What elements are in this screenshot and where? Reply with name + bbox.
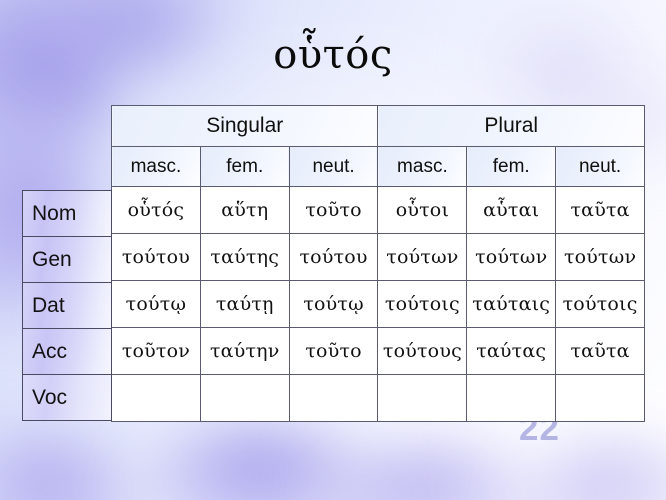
cell-nom-pl-neut: ταῦτα: [556, 187, 645, 234]
header-plural-neut: neut.: [556, 147, 645, 187]
cell-dat-pl-neut: τούτοις: [556, 281, 645, 328]
table-row-acc: τοῦτον ταύτην τοῦτο τούτους ταύτας ταῦτα: [112, 328, 645, 375]
table-row-voc: [112, 375, 645, 422]
background-blob-bottom-left: [0, 430, 140, 500]
slide-canvas: 22 οὗτός Singular Plural masc. fem. neut…: [0, 0, 666, 500]
header-plural-fem: fem.: [467, 147, 556, 187]
cell-nom-sg-masc: οὗτός: [112, 187, 201, 234]
number-header-row: Singular Plural: [112, 106, 645, 147]
header-plural-masc: masc.: [378, 147, 467, 187]
cell-gen-sg-fem: ταύτης: [200, 234, 289, 281]
background-blob-bottom-middle: [130, 425, 390, 500]
cell-dat-sg-neut: τούτῳ: [289, 281, 378, 328]
header-singular-fem: fem.: [200, 147, 289, 187]
background-blob-bottom-center: [320, 448, 550, 500]
cell-nom-pl-masc: οὗτοι: [378, 187, 467, 234]
cell-acc-pl-fem: ταύτας: [467, 328, 556, 375]
cell-nom-sg-fem: αὕτη: [200, 187, 289, 234]
cell-nom-pl-fem: αὗται: [467, 187, 556, 234]
page-title: οὗτός: [0, 32, 666, 78]
cell-dat-sg-masc: τούτῳ: [112, 281, 201, 328]
cell-voc-pl-masc: [378, 375, 467, 422]
cell-acc-sg-masc: τοῦτον: [112, 328, 201, 375]
cell-acc-pl-neut: ταῦτα: [556, 328, 645, 375]
cell-voc-sg-masc: [112, 375, 201, 422]
cell-acc-sg-fem: ταύτην: [200, 328, 289, 375]
gender-header-row: masc. fem. neut. masc. fem. neut.: [112, 147, 645, 187]
header-singular: Singular: [112, 106, 378, 147]
cell-acc-sg-neut: τοῦτο: [289, 328, 378, 375]
cell-gen-pl-neut: τούτων: [556, 234, 645, 281]
table-row-gen: τούτου ταύτης τούτου τούτων τούτων τούτω…: [112, 234, 645, 281]
case-label-column: Nom Gen Dat Acc Voc: [22, 190, 112, 421]
cell-voc-sg-neut: [289, 375, 378, 422]
case-label-nom: Nom: [23, 191, 111, 237]
cell-acc-pl-masc: τούτους: [378, 328, 467, 375]
header-singular-masc: masc.: [112, 147, 201, 187]
cell-gen-sg-masc: τούτου: [112, 234, 201, 281]
declension-table: Singular Plural masc. fem. neut. masc. f…: [111, 105, 645, 422]
case-label-dat: Dat: [23, 283, 111, 329]
table-row-dat: τούτῳ ταύτῃ τούτῳ τούτοις ταύταις τούτοι…: [112, 281, 645, 328]
cell-voc-pl-neut: [556, 375, 645, 422]
cell-gen-pl-masc: τούτων: [378, 234, 467, 281]
cell-dat-sg-fem: ταύτῃ: [200, 281, 289, 328]
cell-dat-pl-masc: τούτοις: [378, 281, 467, 328]
background-blob-left-top: [0, 0, 120, 170]
table-row-nom: οὗτός αὕτη τοῦτο οὗτοι αὗται ταῦτα: [112, 187, 645, 234]
table-header: Singular Plural masc. fem. neut. masc. f…: [112, 106, 645, 187]
case-label-voc: Voc: [23, 375, 111, 421]
cell-dat-pl-fem: ταύταις: [467, 281, 556, 328]
header-plural: Plural: [378, 106, 645, 147]
case-label-gen: Gen: [23, 237, 111, 283]
table-body: οὗτός αὕτη τοῦτο οὗτοι αὗται ταῦτα τούτο…: [112, 187, 645, 422]
header-singular-neut: neut.: [289, 147, 378, 187]
cell-voc-pl-fem: [467, 375, 556, 422]
cell-nom-sg-neut: τοῦτο: [289, 187, 378, 234]
background-blob-bottom-right: [520, 440, 666, 500]
cell-voc-sg-fem: [200, 375, 289, 422]
cell-gen-sg-neut: τούτου: [289, 234, 378, 281]
case-label-acc: Acc: [23, 329, 111, 375]
cell-gen-pl-fem: τούτων: [467, 234, 556, 281]
